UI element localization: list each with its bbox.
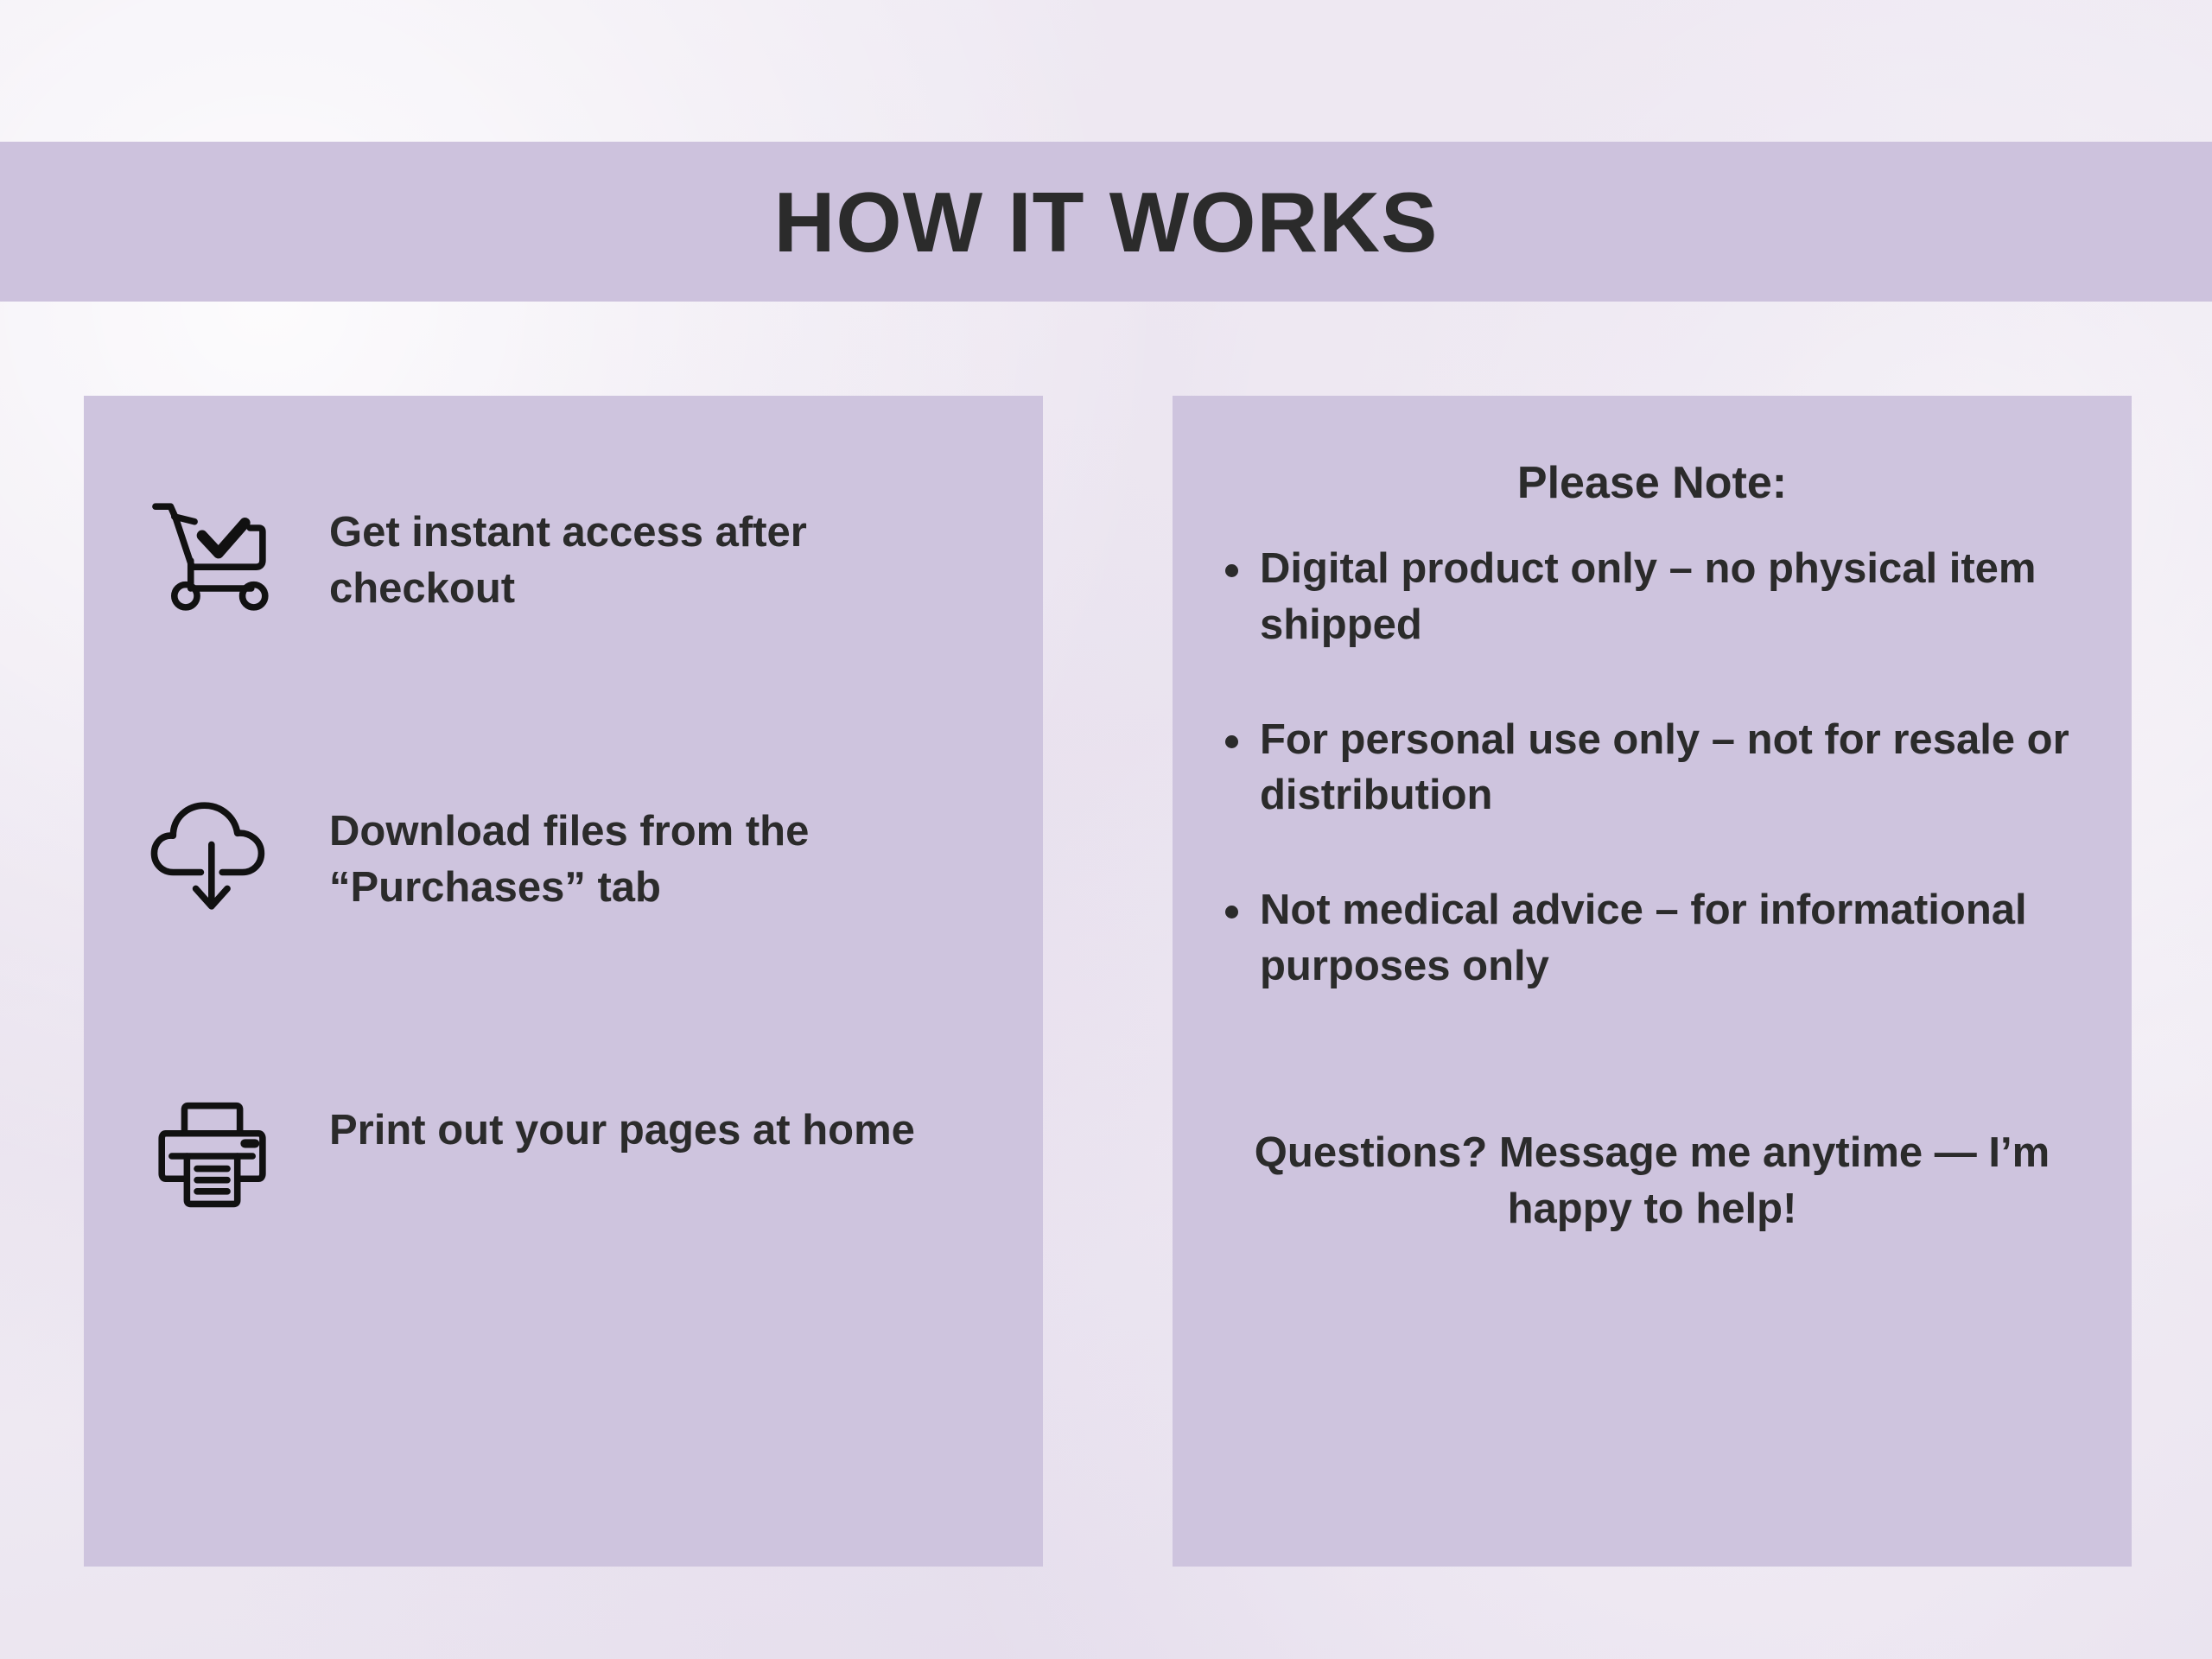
step-item-print-pages: Print out your pages at home [136,1090,991,1234]
page-title: HOW IT WORKS [774,180,1439,264]
slide-canvas: HOW IT WORKS Get instant access after ch… [0,0,2212,1659]
list-item: Digital product only – no physical item … [1220,541,2084,652]
step-label: Download files from the “Purchases” tab [329,791,986,915]
notes-heading: Please Note: [1220,456,2084,510]
step-label: Print out your pages at home [329,1090,915,1159]
list-item: Not medical advice – for informational p… [1220,882,2084,994]
step-item-download-files: Download files from the “Purchases” tab [136,791,991,935]
closing-message: Questions? Message me anytime — I’m happ… [1220,1125,2084,1236]
notes-panel: Please Note: Digital product only – no p… [1173,396,2132,1567]
note-text: Digital product only – no physical item … [1260,545,2036,648]
cloud-download-icon [136,791,291,935]
step-item-instant-access: Get instant access after checkout [136,493,991,636]
printer-icon [136,1090,291,1234]
header-band: HOW IT WORKS [0,142,2212,302]
note-text: For personal use only – not for resale o… [1260,716,2069,819]
bullet-icon [1225,564,1238,577]
bullet-icon [1225,735,1238,748]
step-label: Get instant access after checkout [329,493,986,616]
bullet-icon [1225,906,1238,918]
list-item: For personal use only – not for resale o… [1220,712,2084,823]
notes-list: Digital product only – no physical item … [1220,541,2084,994]
shopping-cart-check-icon [136,493,291,636]
steps-panel: Get instant access after checkout Downlo… [84,396,1043,1567]
note-text: Not medical advice – for informational p… [1260,887,2027,989]
